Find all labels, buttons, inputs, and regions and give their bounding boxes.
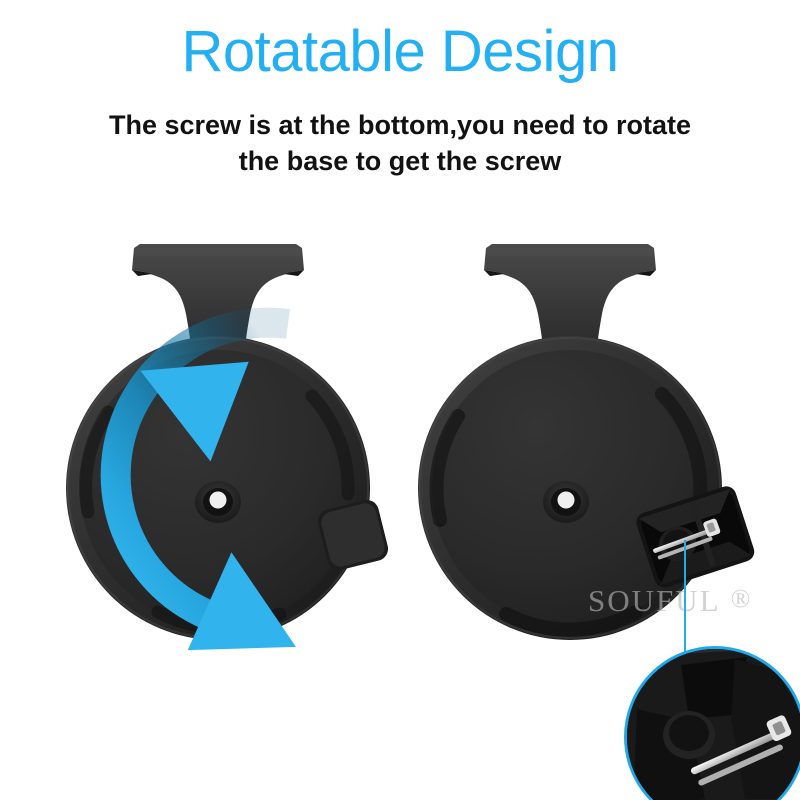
- center-screw-hole-right: [543, 481, 589, 523]
- product-marketing-image: Rotatable Design The screw is at the bot…: [0, 0, 800, 800]
- magnified-screw-detail-circle: [624, 646, 800, 800]
- center-screw-hole-left: [195, 481, 241, 523]
- product-image-rotating-base-with-arrows: [48, 236, 388, 656]
- page-title: Rotatable Design: [0, 22, 800, 83]
- page-subtitle: The screw is at the bottom,you need to r…: [60, 108, 740, 180]
- callout-connector-line: [684, 540, 686, 658]
- subtitle-line-2: the base to get the screw: [60, 144, 740, 180]
- product-image-rotating-base-open-compartment: [400, 236, 740, 656]
- subtitle-line-1: The screw is at the bottom,you need to r…: [60, 108, 740, 144]
